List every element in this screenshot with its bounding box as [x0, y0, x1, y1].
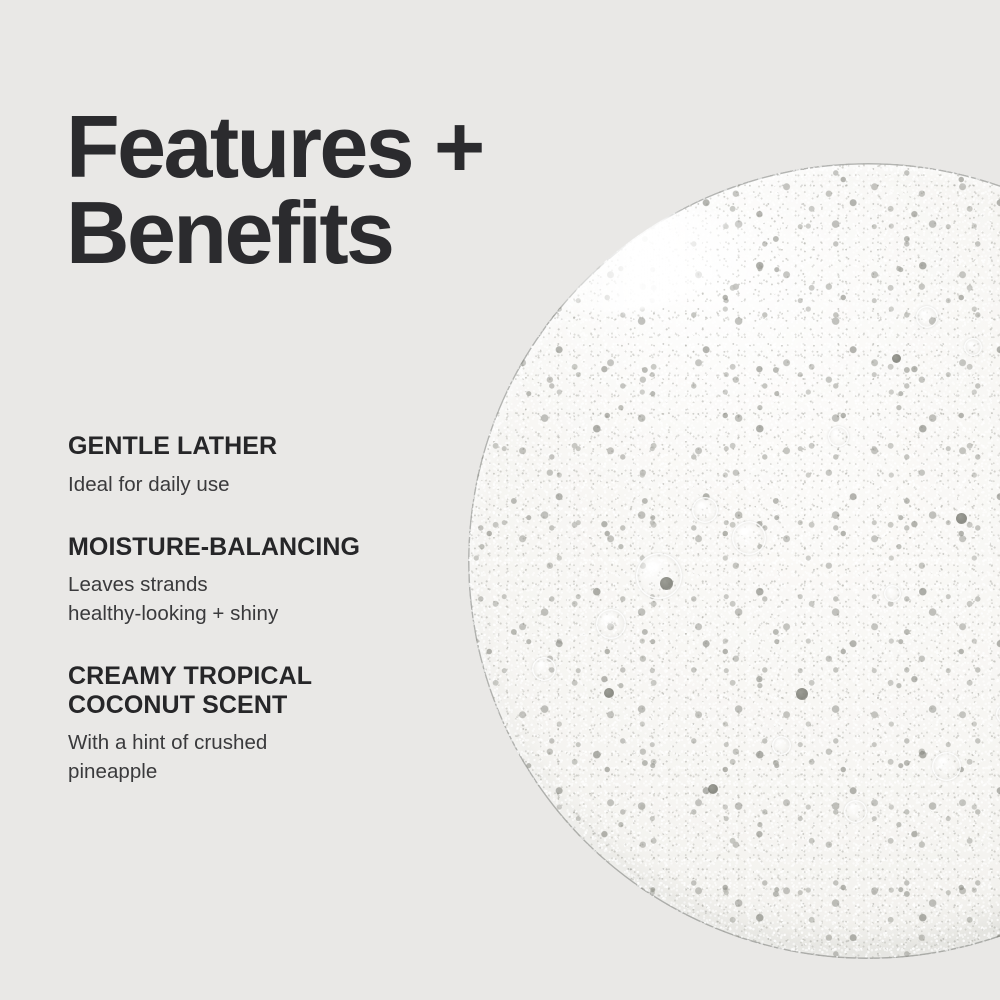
gel-rim-shading — [468, 163, 1000, 959]
gel-bubble — [932, 752, 961, 781]
gel-speckle — [892, 354, 901, 363]
feature-item-moisture-balancing: MOISTURE-BALANCING Leaves strandshealthy… — [68, 533, 468, 629]
gel-blob-image — [468, 163, 1000, 959]
gel-microspeckle-layer — [468, 163, 1000, 959]
gel-speckle — [956, 513, 967, 524]
gel-bubble — [996, 704, 1000, 724]
feature-description: With a hint of crushedpineapple — [68, 728, 468, 786]
feature-title: GENTLE LATHER — [68, 432, 468, 461]
gel-speckle — [604, 688, 614, 698]
gel-granule-layer-small — [468, 163, 1000, 959]
product-feature-graphic: Features + Benefits GENTLE LATHER Ideal … — [0, 0, 1000, 1000]
gel-bubble — [844, 800, 867, 823]
gel-bubble — [916, 306, 938, 328]
feature-list: GENTLE LATHER Ideal for daily use MOISTU… — [68, 432, 468, 787]
gel-bubble — [636, 553, 682, 599]
gel-bubble — [772, 736, 791, 755]
gel-bubble — [732, 521, 766, 555]
gel-bubble — [828, 426, 849, 447]
headline-line-2: Benefits — [66, 190, 586, 276]
feature-item-gentle-lather: GENTLE LATHER Ideal for daily use — [68, 432, 468, 499]
feature-title: CREAMY TROPICALCOCONUT SCENT — [68, 662, 468, 719]
feature-description: Leaves strandshealthy-looking + shiny — [68, 570, 468, 628]
gel-blob-body — [468, 163, 1000, 959]
gel-speckle — [796, 688, 808, 700]
page-title: Features + Benefits — [66, 104, 586, 276]
feature-title: MOISTURE-BALANCING — [68, 533, 468, 562]
gel-speckle — [660, 577, 673, 590]
gel-bubble — [884, 585, 901, 602]
gel-bubble — [532, 657, 556, 681]
gel-speckle — [708, 784, 718, 794]
feature-item-coconut-scent: CREAMY TROPICALCOCONUT SCENT With a hint… — [68, 662, 468, 786]
feature-description: Ideal for daily use — [68, 470, 468, 499]
gel-bubble — [692, 497, 718, 523]
gel-bubble — [964, 338, 982, 356]
gel-microspeckle-layer-fine — [468, 163, 1000, 959]
headline-line-1: Features + — [66, 104, 586, 190]
gel-granule-layer — [468, 163, 1000, 959]
gel-bubble — [596, 609, 626, 639]
